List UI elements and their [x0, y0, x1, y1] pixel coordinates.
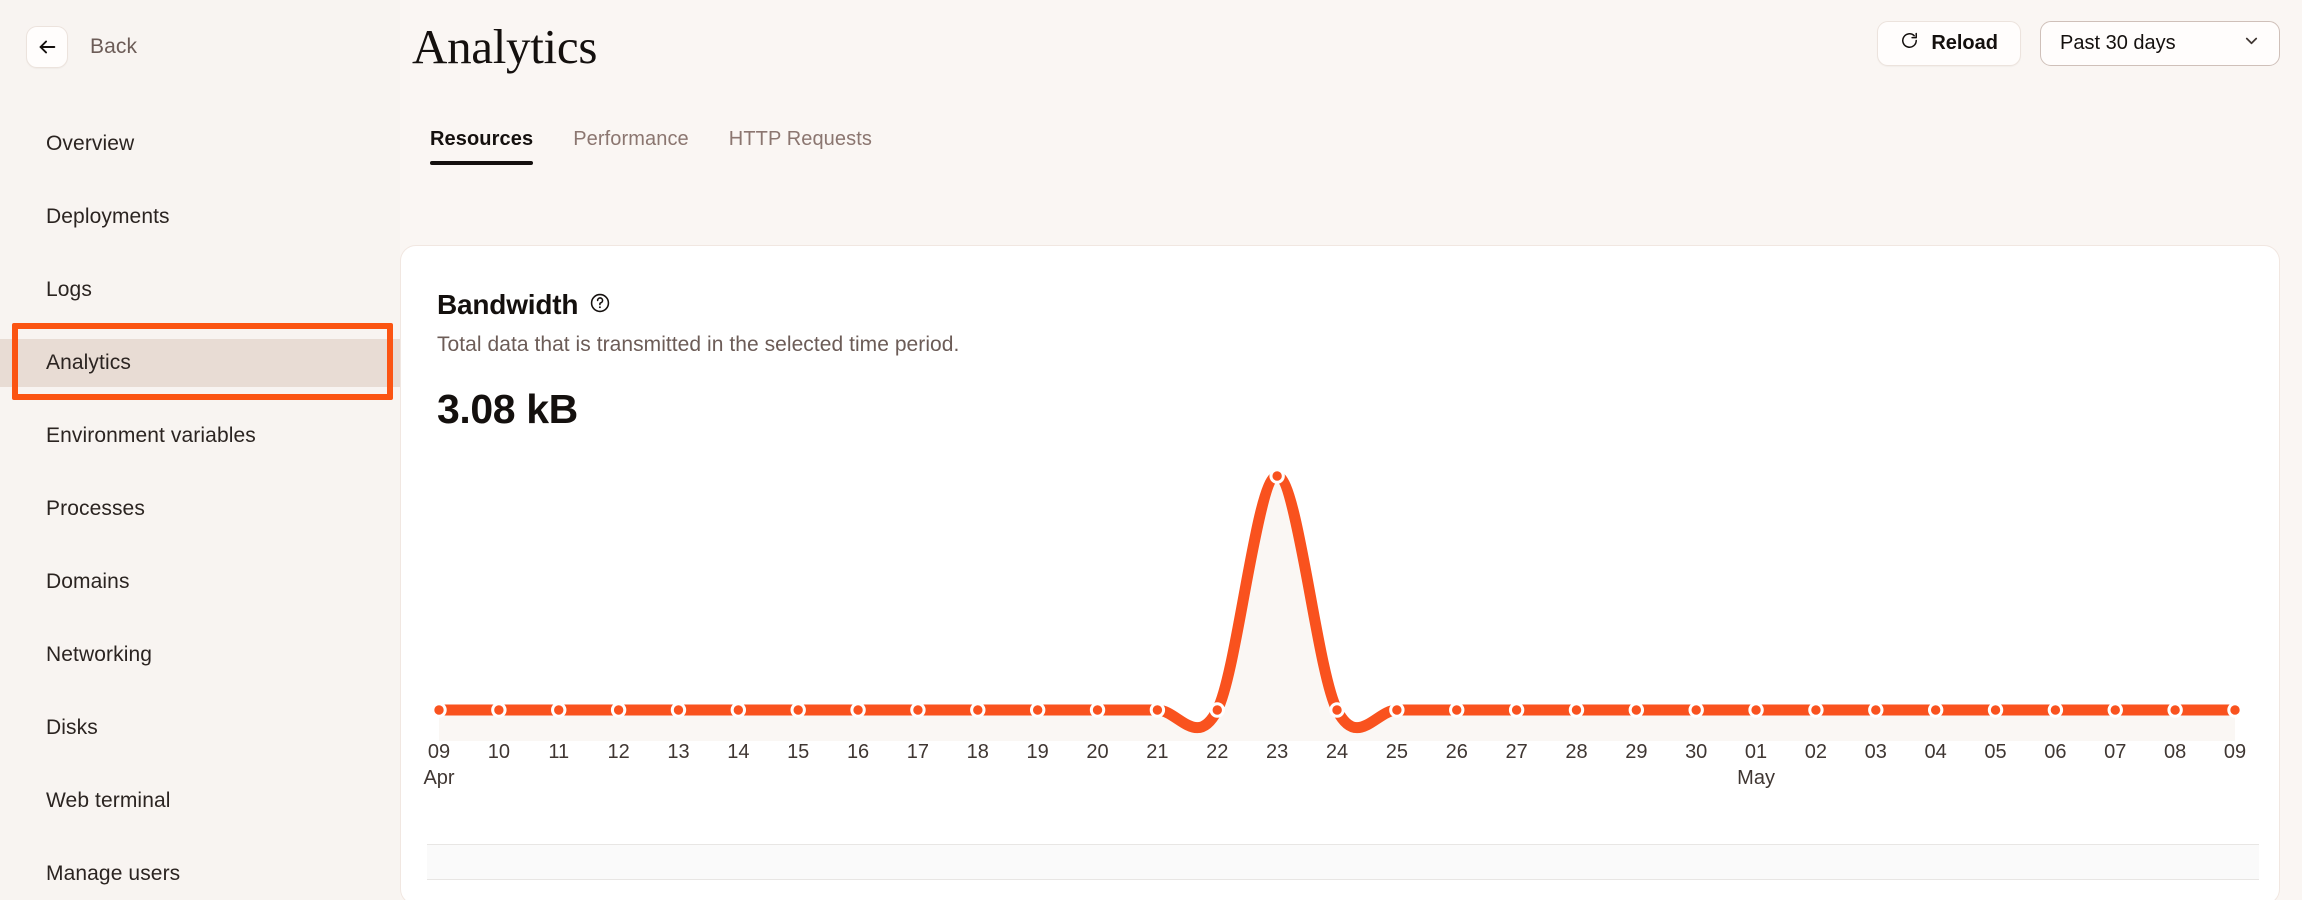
x-axis-tick-day: 18 [967, 741, 989, 763]
x-axis-tick-day: 15 [787, 741, 809, 763]
x-axis-tick: 10 [488, 741, 510, 764]
x-axis-tick-day: 13 [667, 741, 689, 763]
chart-markers [433, 470, 2241, 716]
x-axis-tick: 30 [1685, 741, 1707, 764]
chevron-down-icon [2242, 31, 2261, 56]
x-axis-tick-day: 05 [1984, 741, 2006, 763]
sidebar-item-label: Networking [46, 643, 152, 667]
x-axis-tick-day: 14 [727, 741, 749, 763]
sidebar-item-web-terminal[interactable]: Web terminal [0, 777, 400, 825]
sidebar-nav: Overview Deployments Logs Analytics Envi… [0, 120, 400, 900]
chart-point[interactable] [1870, 704, 1882, 716]
x-axis-tick-day: 21 [1146, 741, 1168, 763]
x-axis-tick-day: 26 [1446, 741, 1468, 763]
time-range-brush[interactable] [427, 844, 2259, 880]
x-axis-tick: 02 [1805, 741, 1827, 764]
x-axis-tick-day: 09 [2224, 741, 2246, 763]
x-axis-tick-day: 07 [2104, 741, 2126, 763]
x-axis-tick: 07 [2104, 741, 2126, 764]
chart-point[interactable] [1211, 704, 1223, 716]
x-axis-tick: 27 [1505, 741, 1527, 764]
chart-point[interactable] [1151, 704, 1163, 716]
tab-performance[interactable]: Performance [553, 128, 709, 165]
sidebar-item-disks[interactable]: Disks [0, 704, 400, 752]
x-axis-tick-day: 24 [1326, 741, 1348, 763]
x-axis-tick: 24 [1326, 741, 1348, 764]
reload-label: Reload [1931, 32, 1998, 55]
bandwidth-chart[interactable] [427, 441, 2259, 741]
sidebar-item-logs[interactable]: Logs [0, 266, 400, 314]
x-axis-tick: 17 [907, 741, 929, 764]
tab-label: Resources [430, 128, 533, 150]
x-axis-tick-day: 20 [1086, 741, 1108, 763]
sidebar-item-label: Manage users [46, 862, 180, 886]
page-title: Analytics [412, 18, 597, 75]
x-axis-tick-day: 29 [1625, 741, 1647, 763]
chart-point[interactable] [2109, 704, 2121, 716]
refresh-icon [1900, 31, 1919, 56]
sidebar: Back Overview Deployments Logs Analytics… [0, 0, 400, 900]
x-axis-tick-day: 30 [1685, 741, 1707, 763]
sidebar-item-label: Overview [46, 132, 134, 156]
back-label: Back [90, 35, 137, 59]
x-axis-tick-day: 23 [1266, 741, 1288, 763]
chart-point[interactable] [2169, 704, 2181, 716]
chart-point[interactable] [1929, 704, 1941, 716]
x-axis-tick: 23 [1266, 741, 1288, 764]
x-axis-tick: 19 [1027, 741, 1049, 764]
x-axis-tick: 13 [667, 741, 689, 764]
sidebar-item-label: Web terminal [46, 789, 171, 813]
sidebar-item-analytics[interactable]: Analytics [0, 339, 400, 387]
x-axis-tick-day: 17 [907, 741, 929, 763]
chart-line [439, 476, 2235, 728]
x-axis-tick: 05 [1984, 741, 2006, 764]
chart-point[interactable] [1331, 704, 1343, 716]
chart-x-axis: 09Apr10111213141516171819202122232425262… [427, 741, 2259, 811]
x-axis-tick-day: 11 [548, 741, 569, 763]
chart-point[interactable] [1690, 704, 1702, 716]
x-axis-tick: 18 [967, 741, 989, 764]
x-axis-tick: 26 [1446, 741, 1468, 764]
x-axis-tick-day: 25 [1386, 741, 1408, 763]
x-axis-tick: 28 [1565, 741, 1587, 764]
x-axis-tick: 16 [847, 741, 869, 764]
chart-point[interactable] [1570, 704, 1582, 716]
x-axis-tick: 29 [1625, 741, 1647, 764]
chart-point[interactable] [1510, 704, 1522, 716]
x-axis-tick-day: 03 [1865, 741, 1887, 763]
sidebar-item-label: Logs [46, 278, 92, 302]
x-axis-tick-day: 02 [1805, 741, 1827, 763]
x-axis-tick-month: Apr [423, 767, 454, 790]
tab-bar: Resources Performance HTTP Requests [410, 128, 892, 165]
sidebar-item-networking[interactable]: Networking [0, 631, 400, 679]
x-axis-tick-day: 28 [1565, 741, 1587, 763]
chart-point[interactable] [433, 704, 445, 716]
sidebar-item-overview[interactable]: Overview [0, 120, 400, 168]
chart-point[interactable] [612, 704, 624, 716]
tab-label: Performance [573, 128, 689, 150]
chart-point[interactable] [792, 704, 804, 716]
x-axis-tick: 12 [607, 741, 629, 764]
x-axis-tick-day: 08 [2164, 741, 2186, 763]
chart-point[interactable] [1989, 704, 2001, 716]
x-axis-tick: 09 [2224, 741, 2246, 764]
bandwidth-chart-svg [427, 441, 2259, 741]
back-button[interactable] [26, 26, 68, 68]
sidebar-item-label: Processes [46, 497, 145, 521]
x-axis-tick: 11 [548, 741, 569, 764]
x-axis-tick-day: 12 [607, 741, 629, 763]
chart-point[interactable] [972, 704, 984, 716]
x-axis-tick-month: May [1737, 767, 1775, 790]
x-axis-tick: 04 [1925, 741, 1947, 764]
chart-point[interactable] [1271, 470, 1283, 482]
chart-point[interactable] [1391, 704, 1403, 716]
sidebar-item-environment-variables[interactable]: Environment variables [0, 412, 400, 460]
time-range-select[interactable]: Past 30 days [2040, 21, 2280, 66]
x-axis-tick: 14 [727, 741, 749, 764]
x-axis-tick-day: 04 [1925, 741, 1947, 763]
header-actions: Reload Past 30 days [1877, 21, 2280, 66]
tab-http-requests[interactable]: HTTP Requests [709, 128, 892, 165]
x-axis-tick-day: 16 [847, 741, 869, 763]
x-axis-tick-day: 19 [1027, 741, 1049, 763]
chart-point[interactable] [672, 704, 684, 716]
x-axis-tick: 22 [1206, 741, 1228, 764]
chart-point[interactable] [1031, 704, 1043, 716]
x-axis-tick-day: 22 [1206, 741, 1228, 763]
main-content: Analytics Reload Past 30 days [400, 0, 2302, 900]
x-axis-tick: 08 [2164, 741, 2186, 764]
chart-point[interactable] [1750, 704, 1762, 716]
chart-point[interactable] [1091, 704, 1103, 716]
tab-resources[interactable]: Resources [410, 128, 553, 165]
sidebar-item-domains[interactable]: Domains [0, 558, 400, 606]
x-axis-tick: 01May [1737, 741, 1775, 790]
chart-point[interactable] [732, 704, 744, 716]
chart-point[interactable] [852, 704, 864, 716]
chart-point[interactable] [553, 704, 565, 716]
sidebar-item-deployments[interactable]: Deployments [0, 193, 400, 241]
sidebar-item-label: Deployments [46, 205, 170, 229]
chart-point[interactable] [1630, 704, 1642, 716]
sidebar-item-label: Domains [46, 570, 130, 594]
time-range-value: Past 30 days [2060, 32, 2176, 55]
chart-point[interactable] [2049, 704, 2061, 716]
x-axis-tick-day: 06 [2044, 741, 2066, 763]
sidebar-item-manage-users[interactable]: Manage users [0, 850, 400, 898]
x-axis-tick: 25 [1386, 741, 1408, 764]
chart-point[interactable] [2229, 704, 2241, 716]
chart-point[interactable] [493, 704, 505, 716]
x-axis-tick-day: 01 [1745, 741, 1767, 763]
x-axis-tick: 21 [1146, 741, 1168, 764]
x-axis-tick: 06 [2044, 741, 2066, 764]
sidebar-item-label: Disks [46, 716, 98, 740]
chart-point[interactable] [1810, 704, 1822, 716]
x-axis-tick: 09Apr [423, 741, 454, 790]
sidebar-item-processes[interactable]: Processes [0, 485, 400, 533]
back-navigation[interactable]: Back [26, 26, 137, 68]
arrow-left-icon [36, 36, 58, 58]
sidebar-item-label: Environment variables [46, 424, 256, 448]
card-subtitle: Total data that is transmitted in the se… [437, 333, 959, 357]
reload-button[interactable]: Reload [1877, 21, 2021, 66]
x-axis-tick-day: 09 [428, 741, 450, 763]
chart-point[interactable] [912, 704, 924, 716]
x-axis-tick: 20 [1086, 741, 1108, 764]
chart-point[interactable] [1451, 704, 1463, 716]
card-header: Bandwidth [437, 289, 611, 321]
bandwidth-card: Bandwidth Total data that is transmitted… [400, 245, 2280, 900]
card-value: 3.08 kB [437, 386, 578, 433]
x-axis-tick: 03 [1865, 741, 1887, 764]
sidebar-item-label: Analytics [46, 351, 131, 375]
x-axis-tick-day: 10 [488, 741, 510, 763]
x-axis-tick-day: 27 [1505, 741, 1527, 763]
card-title: Bandwidth [437, 289, 578, 321]
tab-label: HTTP Requests [729, 128, 872, 150]
question-circle-icon[interactable] [589, 292, 611, 319]
analytics-page: Back Overview Deployments Logs Analytics… [0, 0, 2302, 900]
x-axis-tick: 15 [787, 741, 809, 764]
